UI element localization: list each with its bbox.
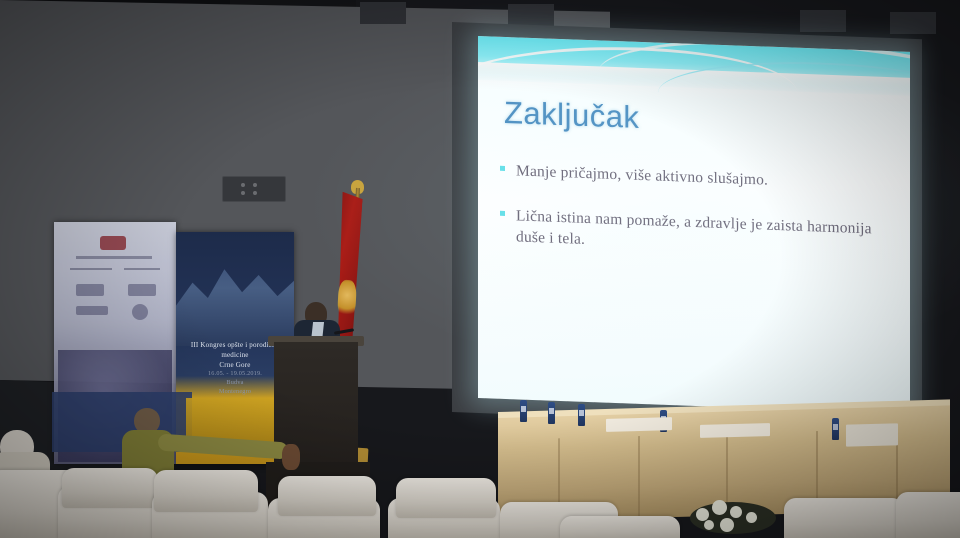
wall-control-panel [222, 176, 286, 202]
banner-line: Montenegro [182, 388, 288, 397]
slide-bullet-item: Manje pričajmo, više aktivno slušajmo. [488, 160, 898, 196]
flower-arrangement [686, 492, 782, 536]
bullet-marker-icon [500, 211, 505, 216]
panel-name-card [606, 417, 672, 432]
conference-photo: Zaključak Manje pričajmo, više aktivno s… [0, 0, 960, 538]
slide-bullet-list: Manje pričajmo, više aktivno slušajmo. L… [488, 160, 898, 285]
slide-bullet-text: Manje pričajmo, više aktivno slušajmo. [516, 162, 768, 188]
banner-line: Budva [182, 379, 288, 388]
ceiling-fixture [360, 2, 406, 24]
presentation-slide: Zaključak Manje pričajmo, više aktivno s… [478, 36, 910, 414]
ceiling-fixture [890, 12, 936, 34]
slide-bullet-item: Lična istina nam pomaže, a zdravlje je z… [488, 205, 898, 262]
banner-line: medicine [182, 350, 288, 360]
slide-bullet-text: Lična istina nam pomaže, a zdravlje je z… [516, 207, 872, 247]
audience-chair [560, 516, 680, 538]
water-bottle [832, 418, 839, 440]
banner-line: 16.05. - 19.05.2019. [182, 370, 288, 379]
ceiling-fixture [800, 10, 846, 32]
audience-chair [896, 492, 960, 538]
water-bottle [520, 400, 527, 422]
audience-chair [784, 498, 904, 538]
bullet-marker-icon [500, 166, 505, 171]
banner-line: Crne Gore [182, 360, 288, 370]
panel-document-stack [846, 423, 898, 446]
slide-title: Zaključak [504, 95, 639, 136]
audience-chair [154, 470, 258, 512]
audience-chair [396, 478, 496, 518]
projection-screen: Zaključak Manje pričajmo, više aktivno s… [478, 36, 910, 414]
banner-text-block: III Kongres opšte i porodične medicine C… [182, 340, 288, 397]
water-bottle [548, 402, 555, 424]
panel-name-card [700, 423, 770, 438]
banner-mountain-graphic [176, 250, 294, 346]
ceiling-fixture [508, 4, 554, 26]
audience-chair [62, 468, 158, 508]
audience-chair [278, 476, 376, 516]
water-bottle [578, 404, 585, 426]
